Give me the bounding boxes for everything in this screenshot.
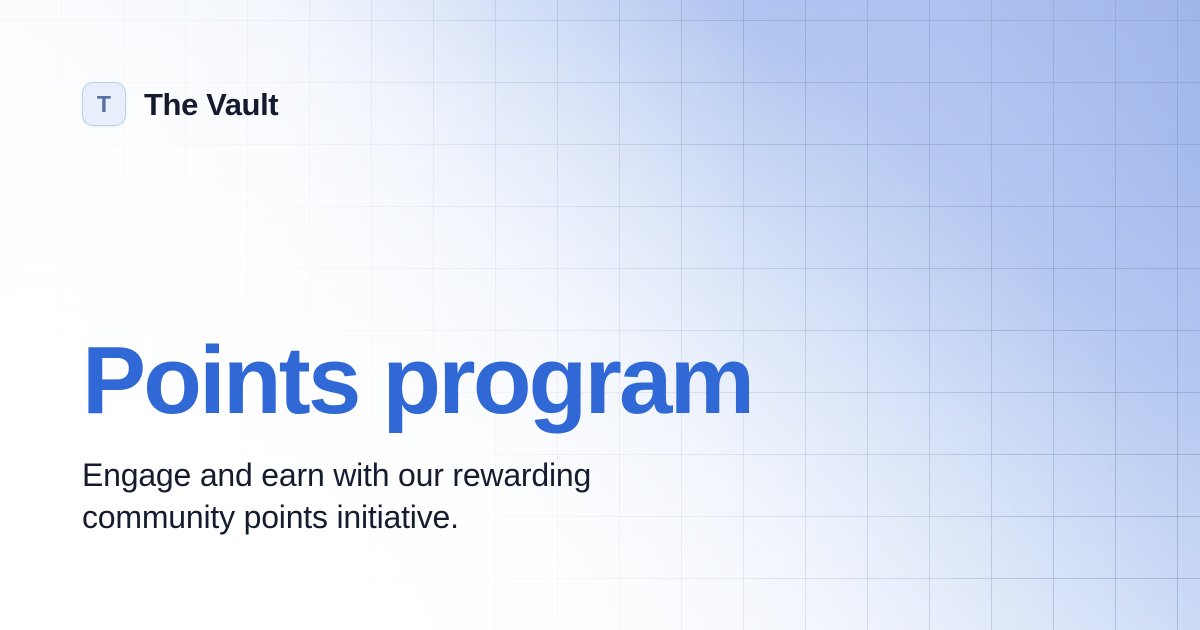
brand-logo-icon: T (82, 82, 126, 126)
promo-banner: T The Vault Points program Engage and ea… (0, 0, 1200, 630)
page-subtitle: Engage and earn with our rewarding commu… (82, 455, 722, 538)
banner-content: T The Vault Points program Engage and ea… (0, 0, 1200, 630)
brand-logo-letter: T (97, 93, 111, 116)
page-title: Points program (82, 333, 902, 429)
brand-lockup[interactable]: T The Vault (82, 82, 278, 126)
hero-block: Points program Engage and earn with our … (82, 333, 902, 538)
brand-name: The Vault (144, 89, 278, 120)
